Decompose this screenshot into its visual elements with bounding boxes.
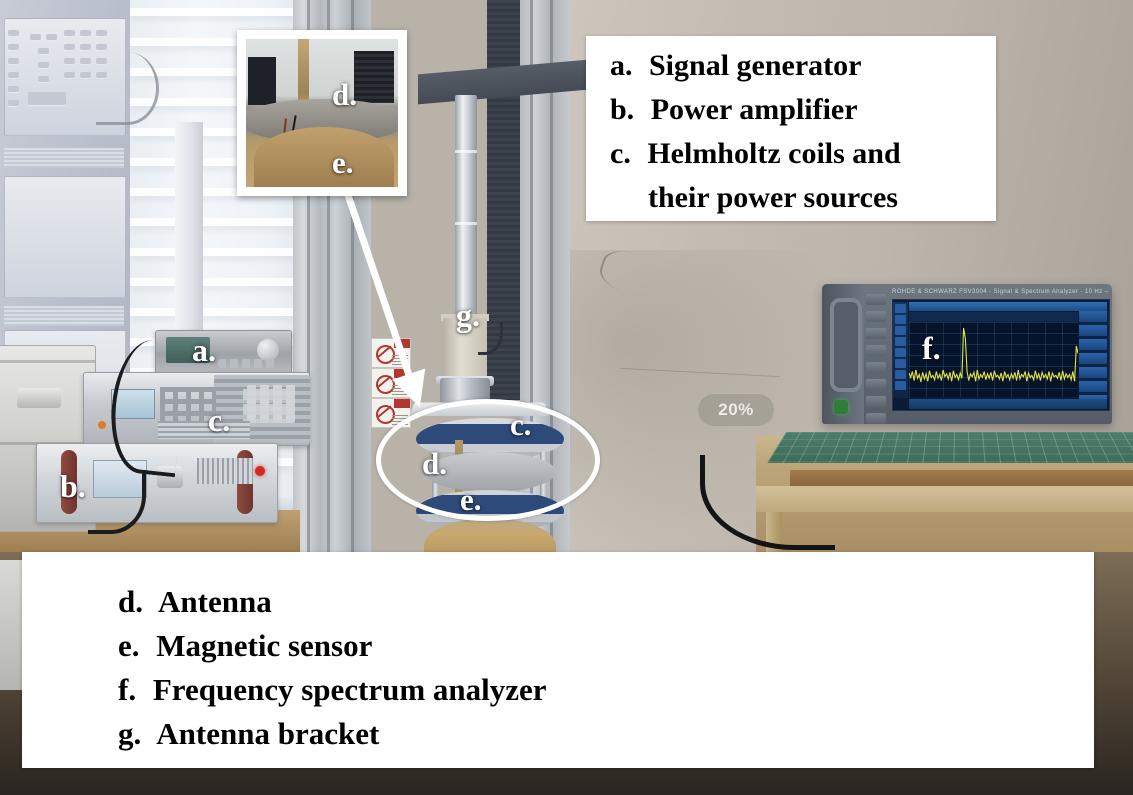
legend-row: d. Antenna — [22, 580, 1094, 624]
region-of-interest-ellipse — [376, 399, 600, 521]
legend-key: g. — [118, 716, 141, 751]
legend-text: Signal generator — [649, 49, 861, 82]
warning-label-1 — [371, 338, 411, 368]
legend-key: c. — [610, 137, 631, 170]
rack-coiled-cable — [96, 52, 159, 125]
spectrum-analyzer: ROHDE & SCHWARZ FSV3004 · Signal & Spect… — [822, 284, 1112, 424]
legend-text: Magnetic sensor — [156, 628, 372, 663]
machine-load-rod — [455, 95, 477, 325]
warning-label-2 — [371, 368, 411, 398]
spectrum-trace-plot — [909, 322, 1078, 397]
legend-key: b. — [610, 93, 634, 126]
legend-row: b. Power amplifier — [586, 88, 996, 132]
legend-row: f. Frequency spectrum analyzer — [22, 668, 1094, 712]
legend-key: e. — [118, 628, 140, 663]
legend-text: Power amplifier — [651, 93, 858, 126]
legend-text: Antenna bracket — [156, 716, 379, 751]
legend-key: d. — [118, 584, 143, 619]
legend-key: a. — [610, 49, 633, 82]
annotated-photo-figure: DELIXI — [0, 0, 1133, 795]
analyzer-brand-text: ROHDE & SCHWARZ FSV3004 · Signal & Spect… — [892, 287, 1108, 298]
legend-row-continuation: their power sources — [586, 176, 996, 220]
analyzer-softkeys[interactable] — [866, 294, 888, 414]
legend-row: e. Magnetic sensor — [22, 624, 1094, 668]
legend-key: f. — [118, 672, 136, 707]
legend-row: c. Helmholtz coils and — [586, 132, 996, 176]
legend-text: Antenna — [158, 584, 272, 619]
analyzer-handle — [830, 298, 862, 392]
inset-closeup-photo: d. e. — [237, 30, 407, 196]
legend-row: a. Signal generator — [586, 44, 996, 88]
power-button-icon[interactable] — [834, 400, 848, 414]
legend-row: g. Antenna bracket — [22, 712, 1094, 756]
analyzer-screen — [892, 299, 1110, 411]
legend-bottom: d. Antenna e. Magnetic sensor f. Frequen… — [22, 552, 1094, 768]
progress-badge: 20% — [698, 394, 774, 426]
legend-text: Helmholtz coils and — [647, 137, 900, 170]
legend-top: a. Signal generator b. Power amplifier c… — [586, 36, 996, 221]
legend-text: their power sources — [648, 181, 898, 214]
legend-text: Frequency spectrum analyzer — [153, 672, 547, 707]
bench-wood-edge — [790, 470, 1133, 486]
